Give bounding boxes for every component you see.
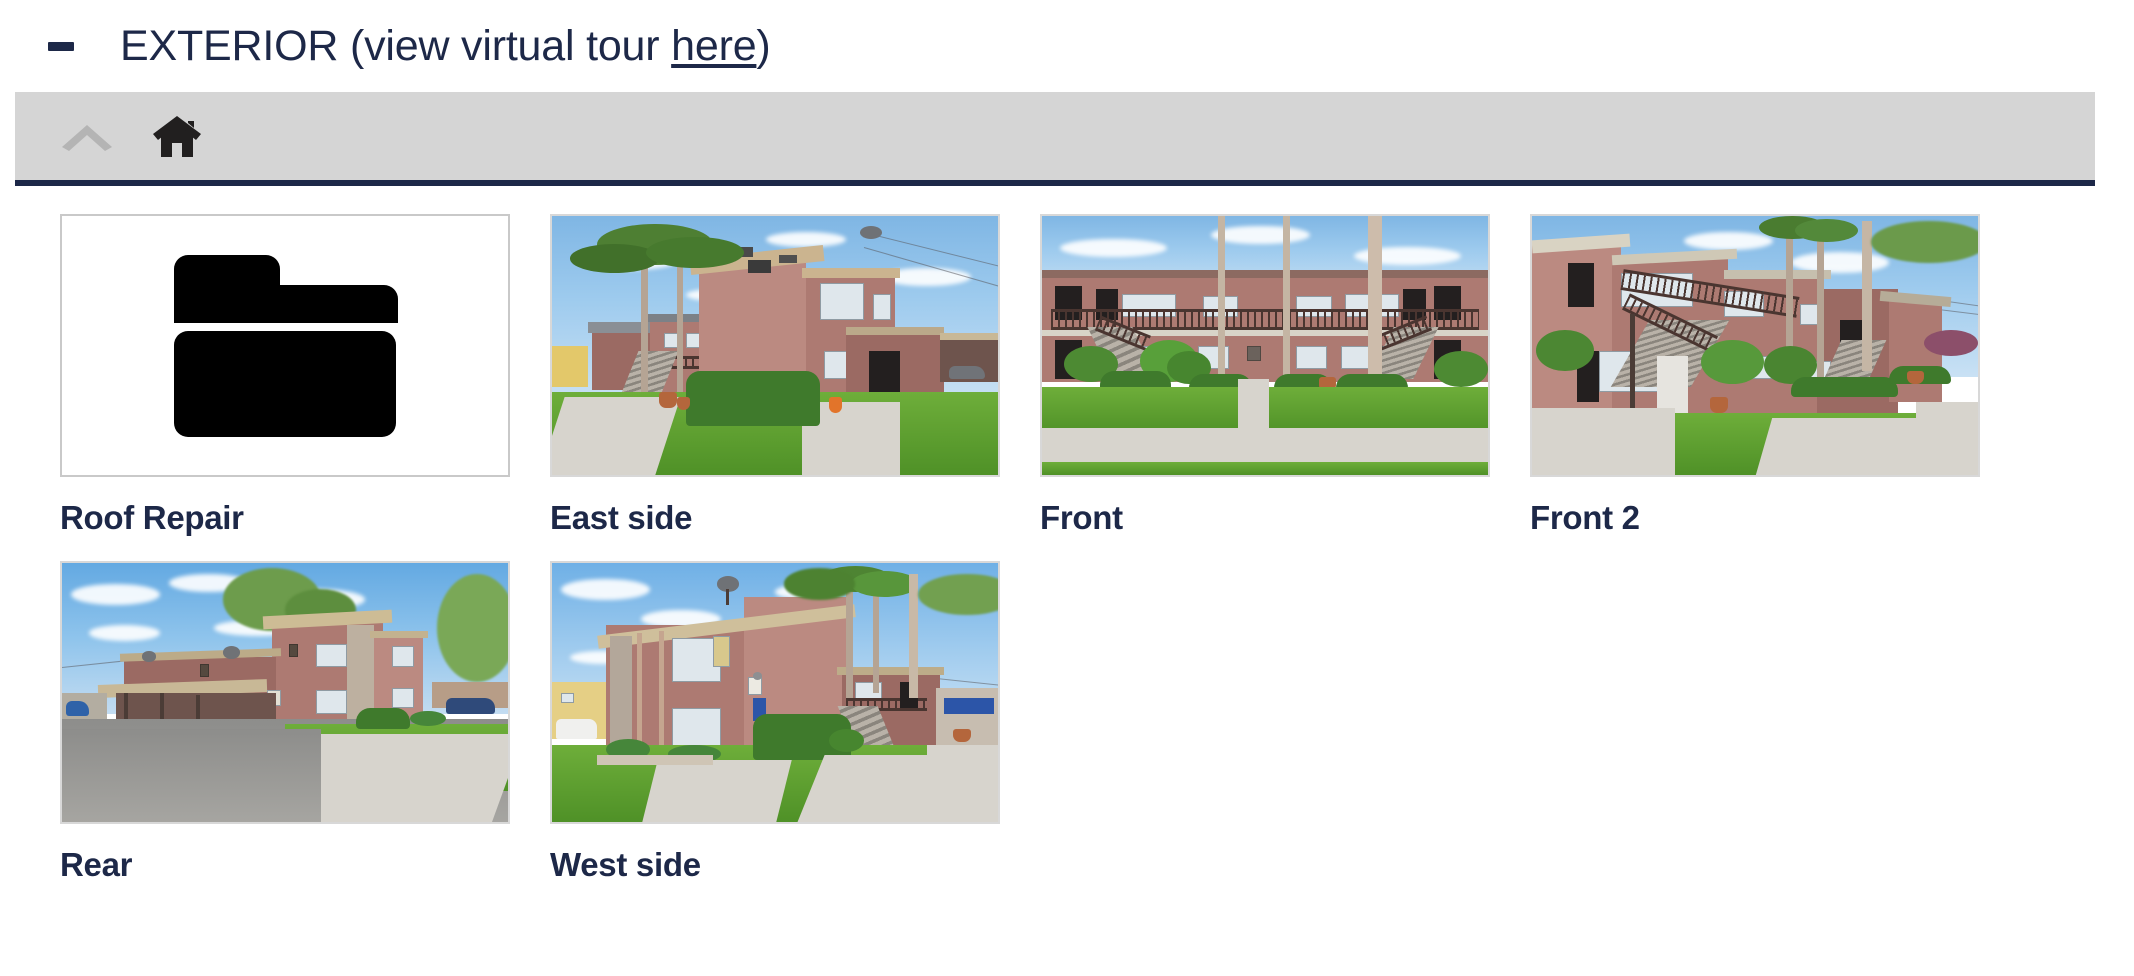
- gallery-row: Roof Repair: [60, 214, 2134, 536]
- photo-scene-east-side: [552, 216, 998, 475]
- gallery-tile-caption[interactable]: East side: [550, 500, 1000, 536]
- folder-thumbnail[interactable]: [60, 214, 510, 477]
- home-icon[interactable]: [141, 100, 213, 172]
- photo-thumbnail[interactable]: [550, 561, 1000, 824]
- gallery-tile-caption[interactable]: Rear: [60, 847, 510, 883]
- photo-scene-front-2: [1532, 216, 1978, 475]
- virtual-tour-link[interactable]: here: [671, 22, 756, 70]
- gallery-toolbar: [15, 92, 2095, 186]
- gallery-tile-caption[interactable]: Front: [1040, 500, 1490, 536]
- gallery-tile-caption[interactable]: West side: [550, 847, 1000, 883]
- gallery-row: Rear: [60, 561, 2134, 883]
- photo-scene-rear: [62, 563, 508, 822]
- gallery-tile[interactable]: East side: [550, 214, 1000, 536]
- page-title-prefix: EXTERIOR (view virtual tour: [120, 22, 671, 70]
- gallery-tile-caption[interactable]: Roof Repair: [60, 500, 510, 536]
- gallery-tile[interactable]: Front 2: [1530, 214, 1980, 536]
- chevron-up-icon[interactable]: [51, 100, 123, 172]
- photo-thumbnail[interactable]: [1040, 214, 1490, 477]
- minus-icon-bar: [48, 42, 74, 51]
- gallery-tile[interactable]: Rear: [60, 561, 510, 883]
- gallery-tile[interactable]: Roof Repair: [60, 214, 510, 536]
- page-title: EXTERIOR (view virtual tour here): [120, 25, 771, 68]
- photo-thumbnail[interactable]: [60, 561, 510, 824]
- page-title-suffix: ): [756, 22, 770, 70]
- gallery-tile-caption[interactable]: Front 2: [1530, 500, 1980, 536]
- minus-icon[interactable]: [44, 29, 78, 63]
- photo-scene-west-side: [552, 563, 998, 822]
- folder-icon: [62, 216, 508, 475]
- photo-thumbnail[interactable]: [1530, 214, 1980, 477]
- section-header: EXTERIOR (view virtual tour here): [0, 0, 2134, 92]
- gallery-grid: Roof Repair: [0, 186, 2134, 884]
- gallery-tile[interactable]: Front: [1040, 214, 1490, 536]
- gallery-tile[interactable]: West side: [550, 561, 1000, 883]
- photo-scene-front: [1042, 216, 1488, 475]
- photo-thumbnail[interactable]: [550, 214, 1000, 477]
